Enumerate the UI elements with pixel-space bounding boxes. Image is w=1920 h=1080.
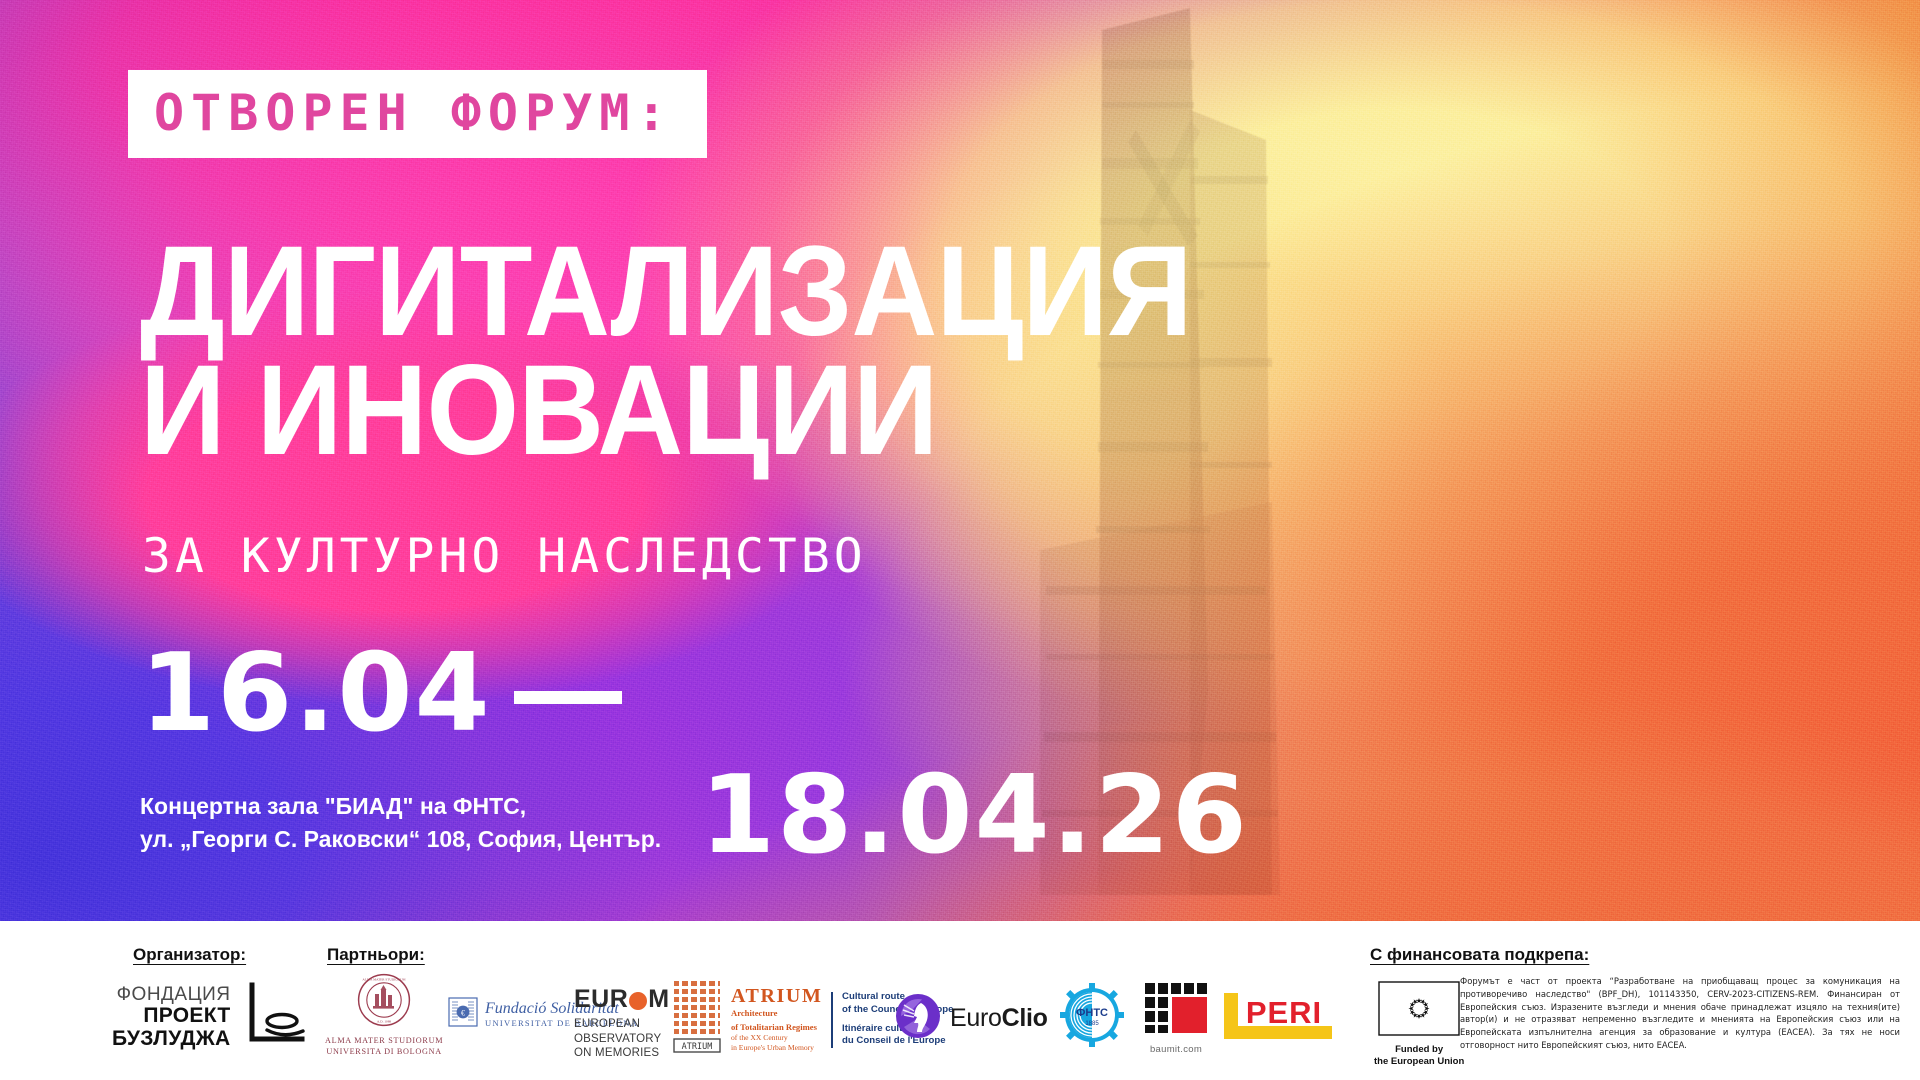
- eu-disclaimer-text: Форумът е част от проекта “Разработване …: [1460, 975, 1900, 1052]
- eurom-wordmark-a: EUR: [574, 987, 628, 1012]
- barcelona-crest-icon: €: [448, 997, 478, 1032]
- venue-line-1: Концертна зала "БИАД" на ФНТС,: [140, 790, 661, 823]
- peri-mark-icon: PERI: [1222, 993, 1334, 1044]
- euroclio-face-icon: [895, 993, 941, 1044]
- eurom-sub-line-1: EUROPEAN: [574, 1017, 661, 1032]
- atrium-tag-line-1: Architecture: [731, 1008, 822, 1019]
- atrium-mark-icon: ATRIUM: [672, 979, 724, 1060]
- logo-buzludzha-foundation[interactable]: ФОНДАЦИЯ ПРОЕКТ БУЗЛУДЖА: [112, 981, 308, 1054]
- buzludzha-line-2: ПРОЕКТ: [112, 1005, 231, 1027]
- eurom-sub-line-2: OBSERVATORY: [574, 1032, 661, 1047]
- date-range-dash: [514, 691, 622, 704]
- buzludzha-mark-icon: [242, 981, 308, 1054]
- atrium-tag-line-3: of the XX Century: [731, 1033, 822, 1043]
- date-end: 18.04.26: [700, 762, 1249, 870]
- euroclio-wordmark-bold: Clio: [1002, 1004, 1048, 1032]
- logo-eu-funded[interactable]: Funded by the European Union: [1374, 981, 1464, 1068]
- logo-peri[interactable]: PERI: [1222, 993, 1334, 1044]
- atrium-wordmark: ATRIUM: [731, 986, 822, 1006]
- svg-text:A.D. 1088: A.D. 1088: [377, 1020, 392, 1024]
- atrium-tag-line-4: in Europe's Urban Memory: [731, 1043, 822, 1053]
- kicker-text: ОТВОРЕН ФОРУМ:: [154, 88, 673, 138]
- poster-content: ОТВОРЕН ФОРУМ: ДИГИТАЛИЗАЦИЯ И ИНОВАЦИИ …: [0, 0, 1920, 1080]
- eurom-o-icon: [629, 992, 647, 1010]
- heading-organizer: Организатор:: [133, 945, 246, 965]
- bologna-caption-line-1: ALMA MATER STUDIORUM: [325, 1035, 443, 1046]
- fnts-gear-icon: ФНТС 1885: [1060, 983, 1124, 1052]
- eu-caption-line-1: Funded by: [1374, 1044, 1464, 1056]
- eurom-wordmark-b: M: [648, 987, 669, 1012]
- bologna-caption-line-2: UNIVERSITA DI BOLOGNA: [325, 1046, 443, 1057]
- page-title: ДИГИТАЛИЗАЦИЯ И ИНОВАЦИИ: [140, 232, 1271, 470]
- svg-text:ATRIUM: ATRIUM: [682, 1042, 713, 1052]
- title-line-1: ДИГИТАЛИЗАЦИЯ: [140, 232, 1192, 351]
- bologna-seal-icon: ALMA MATER STUDIORUM A.D. 1088: [357, 973, 411, 1032]
- svg-text:ALMA MATER STUDIORUM: ALMA MATER STUDIORUM: [363, 978, 406, 982]
- logo-eurom[interactable]: EUR M EUROPEAN OBSERVATORY ON MEMORIES: [574, 987, 670, 1061]
- eu-flag-icon: [1378, 981, 1460, 1041]
- venue-line-2: ул. „Георги С. Раковски“ 108, София, Цен…: [140, 823, 661, 856]
- subtitle: ЗА КУЛТУРНО НАСЛЕДСТВО: [142, 533, 867, 580]
- atrium-tag-line-2: of Totalitarian Regimes: [731, 1022, 822, 1033]
- eurom-sub-line-3: ON MEMORIES: [574, 1046, 661, 1061]
- heading-partners: Партньори:: [327, 945, 425, 965]
- buzludzha-line-1: ФОНДАЦИЯ: [112, 985, 231, 1005]
- eu-caption-line-2: the European Union: [1374, 1056, 1464, 1068]
- heading-funding: С финансовата подкрепа:: [1370, 945, 1589, 965]
- date-start: 16.04: [140, 640, 492, 748]
- kicker-banner: ОТВОРЕН ФОРУМ:: [128, 70, 707, 158]
- buzludzha-line-3: БУЗЛУДЖА: [112, 1028, 231, 1050]
- svg-text:PERI: PERI: [1246, 995, 1322, 1030]
- venue-block: Концертна зала "БИАД" на ФНТС, ул. „Геор…: [140, 790, 661, 855]
- logo-university-of-bologna[interactable]: ALMA MATER STUDIORUM A.D. 1088 ALMA MATE…: [325, 973, 443, 1057]
- event-poster: ОТВОРЕН ФОРУМ: ДИГИТАЛИЗАЦИЯ И ИНОВАЦИИ …: [0, 0, 1920, 1080]
- baumit-mark-icon: [1145, 981, 1207, 1040]
- atrium-divider: [831, 992, 833, 1048]
- logo-baumit[interactable]: baumit.com: [1145, 981, 1207, 1055]
- footer-bar: Организатор: Партньори: С финансовата по…: [0, 921, 1920, 1080]
- fnts-year: 1885: [1085, 1021, 1099, 1027]
- fnts-wordmark: ФНТС: [1076, 1007, 1108, 1019]
- euroclio-wordmark-light: Euro: [950, 1004, 1002, 1032]
- date-start-row: 16.04: [140, 640, 622, 748]
- baumit-domain: baumit.com: [1150, 1044, 1202, 1055]
- logo-fnts[interactable]: ФНТС 1885: [1060, 983, 1124, 1052]
- title-line-2: И ИНОВАЦИИ: [140, 351, 1192, 470]
- svg-text:€: €: [461, 1008, 465, 1017]
- bologna-caption: ALMA MATER STUDIORUM UNIVERSITA DI BOLOG…: [325, 1035, 443, 1057]
- logo-euroclio[interactable]: EuroClio: [895, 993, 1048, 1044]
